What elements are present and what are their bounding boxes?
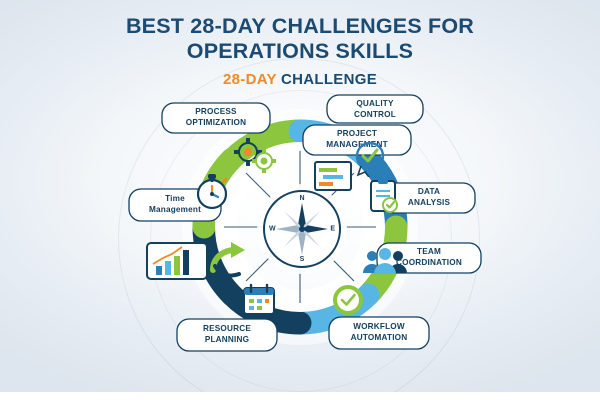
compass-hub: N S W E	[263, 190, 341, 268]
label-line-2: PLANNING	[175, 335, 279, 346]
gears-icon	[228, 133, 282, 179]
node-label-resource-planning[interactable]: RESOURCE PLANNING	[175, 324, 279, 345]
compass-rose-icon	[265, 192, 339, 266]
calendar-icon	[237, 281, 281, 321]
header: BEST 28-DAY CHALLENGES FOR OPERATIONS SK…	[0, 14, 600, 88]
label-line-1: WORKFLOW	[327, 322, 431, 333]
compass-south-label: S	[300, 256, 305, 263]
page-title-line2: OPERATIONS SKILLS	[0, 39, 600, 64]
label-line-2: OPTIMIZATION	[164, 118, 268, 129]
gantt-chart-icon	[310, 157, 356, 195]
clipboard-check-icon	[361, 175, 405, 219]
infographic-canvas: BEST 28-DAY CHALLENGES FOR OPERATIONS SK…	[0, 0, 600, 400]
three-people-icon	[361, 245, 409, 279]
gear-rosette-icon	[327, 279, 369, 321]
node-label-process-optimization[interactable]: PROCESS OPTIMIZATION	[164, 107, 268, 128]
footer-strip	[0, 392, 600, 400]
label-line-1: QUALITY	[323, 99, 427, 110]
label-line-1: PROCESS	[164, 107, 268, 118]
compass-west-label: W	[269, 226, 276, 233]
node-label-quality-control[interactable]: QUALITY CONTROL	[323, 99, 427, 120]
page-title-line1: BEST 28-DAY CHALLENGES FOR	[0, 14, 600, 39]
node-label-workflow-automation[interactable]: WORKFLOW AUTOMATION	[327, 322, 431, 343]
bar-chart-arrow-icon	[143, 240, 249, 282]
spoke-wheel-diagram: N S W E PROCESS OPTIMIZATION QUALITY CON…	[115, 85, 485, 385]
label-line-1: RESOURCE	[175, 324, 279, 335]
label-line-2: AUTOMATION	[327, 333, 431, 344]
label-line-2: CONTROL	[323, 110, 427, 121]
stopwatch-icon	[190, 170, 234, 214]
compass-north-label: N	[299, 195, 304, 202]
compass-east-label: E	[330, 226, 335, 233]
